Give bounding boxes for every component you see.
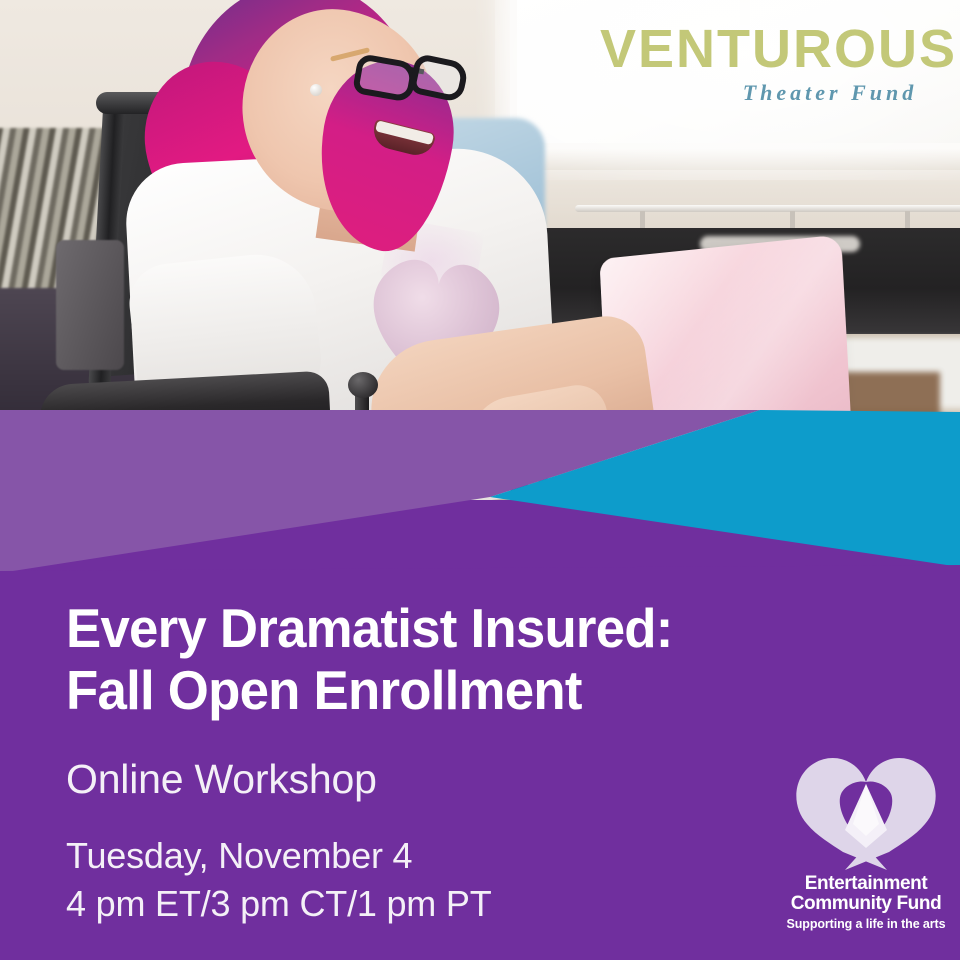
- event-details: Tuesday, November 4 4 pm ET/3 pm CT/1 pm…: [66, 832, 492, 928]
- event-headline: Every Dramatist Insured: Fall Open Enrol…: [66, 598, 853, 721]
- headline-line-1: Every Dramatist Insured:: [66, 597, 673, 659]
- event-subtitle: Online Workshop: [66, 757, 377, 802]
- ecf-tagline: Supporting a life in the arts: [782, 917, 950, 931]
- text-content: Every Dramatist Insured: Fall Open Enrol…: [0, 0, 960, 960]
- event-date: Tuesday, November 4: [66, 832, 492, 880]
- heart-mask-icon: [791, 752, 941, 870]
- headline-line-2: Fall Open Enrollment: [66, 660, 853, 722]
- ecf-name-line-1: Entertainment: [782, 874, 950, 894]
- ecf-name-line-2: Community Fund: [782, 894, 950, 914]
- ecf-name: Entertainment Community Fund: [782, 874, 950, 914]
- entertainment-community-fund-logo: Entertainment Community Fund Supporting …: [782, 752, 950, 930]
- promo-graphic: VENTUROUS Theater Fund Every Dramatist I…: [0, 0, 960, 960]
- event-time: 4 pm ET/3 pm CT/1 pm PT: [66, 880, 492, 928]
